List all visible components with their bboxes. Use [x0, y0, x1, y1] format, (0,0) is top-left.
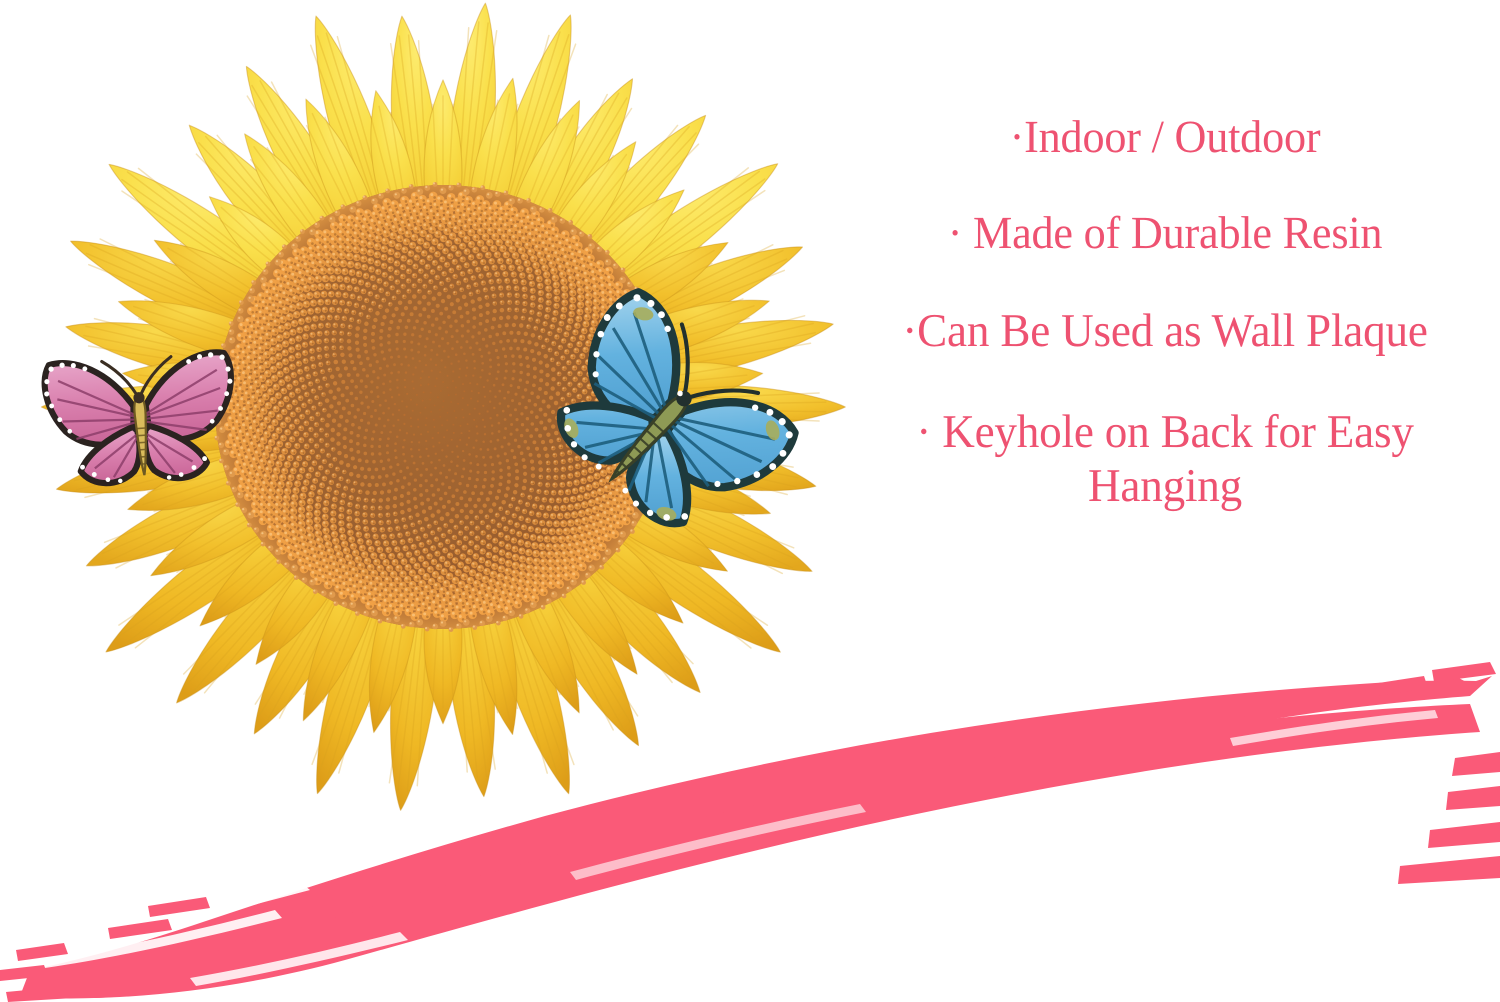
- brush-thick-body: [52, 704, 1480, 998]
- feature-list: ·Indoor / Outdoor · Made of Durable Resi…: [840, 96, 1490, 513]
- feature-item-keyhole-hanging: · Keyhole on Back for Easy Hanging: [853, 405, 1477, 513]
- pink-brush-stroke: [0, 640, 1500, 1002]
- feature-item-durable-resin: · Made of Durable Resin: [853, 210, 1477, 256]
- poster-canvas: ·Indoor / Outdoor · Made of Durable Resi…: [0, 0, 1500, 1002]
- feature-item-indoor-outdoor: ·Indoor / Outdoor: [853, 114, 1477, 160]
- feature-item-wall-plaque: ·Can Be Used as Wall Plaque: [853, 308, 1477, 355]
